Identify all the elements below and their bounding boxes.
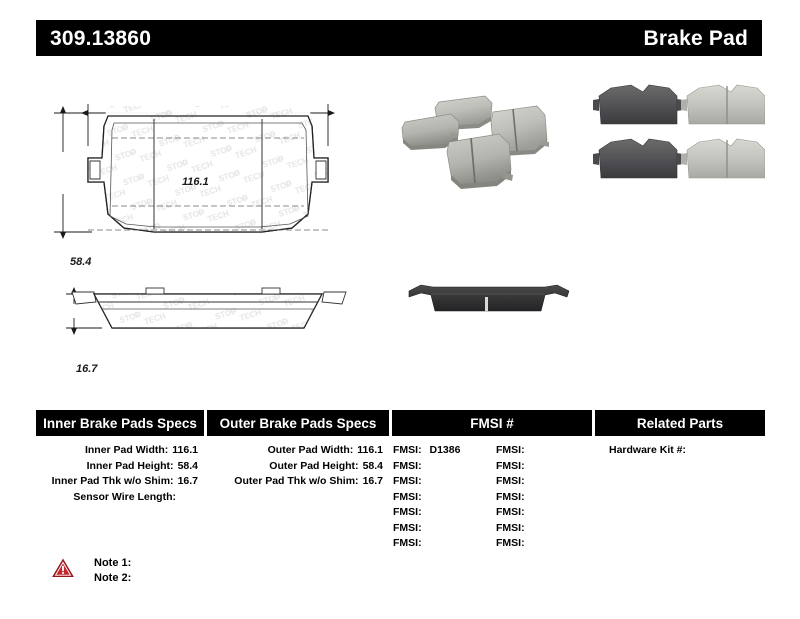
pad-side-view <box>66 286 346 336</box>
spec-value: 116.1 <box>168 443 198 459</box>
spec-value <box>176 490 198 506</box>
product-type: Brake Pad <box>643 28 748 49</box>
column-fmsi: FMSI: D1386 FMSI: FMSI: FMSI: <box>389 443 599 552</box>
table-row: FMSI: <box>393 459 496 475</box>
table-row: Outer Pad Thk w/o Shim: 16.7 <box>204 474 389 490</box>
dimension-width-label: 116.1 <box>182 176 209 188</box>
table-row: FMSI: <box>496 443 599 459</box>
photo-pad-grid <box>585 80 765 190</box>
pad-front-view <box>76 96 346 246</box>
fmsi-value <box>422 522 427 534</box>
fmsi-label: FMSI: <box>393 444 422 456</box>
photo-isometric-pads <box>395 80 585 190</box>
column-related-parts: Hardware Kit #: <box>599 443 769 552</box>
table-row: Inner Pad Width: 116.1 <box>36 443 204 459</box>
spec-label: Outer Pad Width: <box>268 443 354 459</box>
fmsi-value <box>422 460 427 472</box>
fmsi-value <box>422 491 427 503</box>
spec-table: Inner Brake Pads Specs Outer Brake Pads … <box>36 410 762 552</box>
spec-label: Outer Pad Height: <box>269 459 358 475</box>
spec-label: Inner Pad Width: <box>85 443 168 459</box>
table-row: FMSI: D1386 <box>393 443 496 459</box>
table-row: FMSI: <box>496 521 599 537</box>
fmsi-value <box>525 522 530 534</box>
header-bar: 309.13860 Brake Pad <box>36 20 762 56</box>
table-row: Outer Pad Width: 116.1 <box>204 443 389 459</box>
fmsi-value: D1386 <box>425 444 461 456</box>
header-related-parts: Related Parts <box>595 410 765 436</box>
spec-value: 16.7 <box>174 474 198 490</box>
table-row: FMSI: <box>393 505 496 521</box>
fmsi-label: FMSI: <box>496 444 525 456</box>
table-row: Inner Pad Height: 58.4 <box>36 459 204 475</box>
spec-value: 58.4 <box>174 459 198 475</box>
table-row: FMSI: <box>496 474 599 490</box>
note-item: Note 1: <box>94 556 131 571</box>
column-inner-specs: Inner Pad Width: 116.1 Inner Pad Height:… <box>36 443 204 552</box>
fmsi-label: FMSI: <box>393 460 422 472</box>
table-row: Inner Pad Thk w/o Shim: 16.7 <box>36 474 204 490</box>
fmsi-value <box>525 460 530 472</box>
fmsi-label: FMSI: <box>496 460 525 472</box>
fmsi-value <box>525 537 530 549</box>
fmsi-value <box>422 475 427 487</box>
fmsi-value <box>525 475 530 487</box>
table-body: Inner Pad Width: 116.1 Inner Pad Height:… <box>36 436 762 552</box>
table-row: FMSI: <box>393 490 496 506</box>
table-row: FMSI: <box>393 536 496 552</box>
spec-label: Inner Pad Height: <box>87 459 174 475</box>
fmsi-label: FMSI: <box>393 475 422 487</box>
header-fmsi: FMSI # <box>392 410 592 436</box>
fmsi-subcolumn-1: FMSI: D1386 FMSI: FMSI: FMSI: <box>393 443 496 552</box>
table-row: FMSI: <box>496 459 599 475</box>
fmsi-label: FMSI: <box>393 491 422 503</box>
notes-section: Note 1: Note 2: <box>52 556 131 586</box>
spec-value: 116.1 <box>353 443 383 459</box>
photo-pad-edge-view <box>395 271 580 341</box>
table-row: FMSI: <box>496 505 599 521</box>
part-number: 309.13860 <box>50 28 151 49</box>
fmsi-subcolumn-2: FMSI: FMSI: FMSI: FMSI: <box>496 443 599 552</box>
fmsi-label: FMSI: <box>393 537 422 549</box>
fmsi-label: FMSI: <box>393 506 422 518</box>
notes-list: Note 1: Note 2: <box>74 556 131 586</box>
header-inner-specs: Inner Brake Pads Specs <box>36 410 204 436</box>
fmsi-label: FMSI: <box>496 506 525 518</box>
spec-label: Inner Pad Thk w/o Shim: <box>52 474 174 490</box>
fmsi-value <box>422 537 427 549</box>
fmsi-value <box>525 491 530 503</box>
dimension-thickness-label: 16.7 <box>76 363 97 375</box>
spec-sheet-page: 309.13860 Brake Pad STOP TECH <box>0 0 800 619</box>
header-outer-specs: Outer Brake Pads Specs <box>207 410 389 436</box>
fmsi-value <box>525 444 530 456</box>
warning-triangle-icon <box>52 556 74 583</box>
table-row: Hardware Kit #: <box>609 443 769 459</box>
fmsi-label: FMSI: <box>393 522 422 534</box>
table-row: FMSI: <box>393 474 496 490</box>
spec-label: Outer Pad Thk w/o Shim: <box>234 474 358 490</box>
fmsi-label: FMSI: <box>496 491 525 503</box>
table-row: FMSI: <box>496 490 599 506</box>
column-outer-specs: Outer Pad Width: 116.1 Outer Pad Height:… <box>204 443 389 552</box>
fmsi-label: FMSI: <box>496 475 525 487</box>
table-row: Sensor Wire Length: <box>36 490 204 506</box>
table-row: Outer Pad Height: 58.4 <box>204 459 389 475</box>
spec-value: 58.4 <box>359 459 383 475</box>
table-header-row: Inner Brake Pads Specs Outer Brake Pads … <box>36 410 762 436</box>
table-row: FMSI: <box>393 521 496 537</box>
product-photos <box>390 66 770 366</box>
fmsi-label: FMSI: <box>496 537 525 549</box>
fmsi-value <box>525 506 530 518</box>
spec-label: Sensor Wire Length: <box>73 490 176 506</box>
fmsi-label: FMSI: <box>496 522 525 534</box>
dimension-height-label: 58.4 <box>70 256 91 268</box>
related-part-label: Hardware Kit #: <box>609 444 686 456</box>
table-row: FMSI: <box>496 536 599 552</box>
fmsi-value <box>422 506 427 518</box>
brake-pad-drawing-svg: STOP TECH <box>36 66 386 366</box>
note-item: Note 2: <box>94 571 131 586</box>
spec-value: 16.7 <box>359 474 383 490</box>
technical-drawing: STOP TECH <box>36 66 386 366</box>
